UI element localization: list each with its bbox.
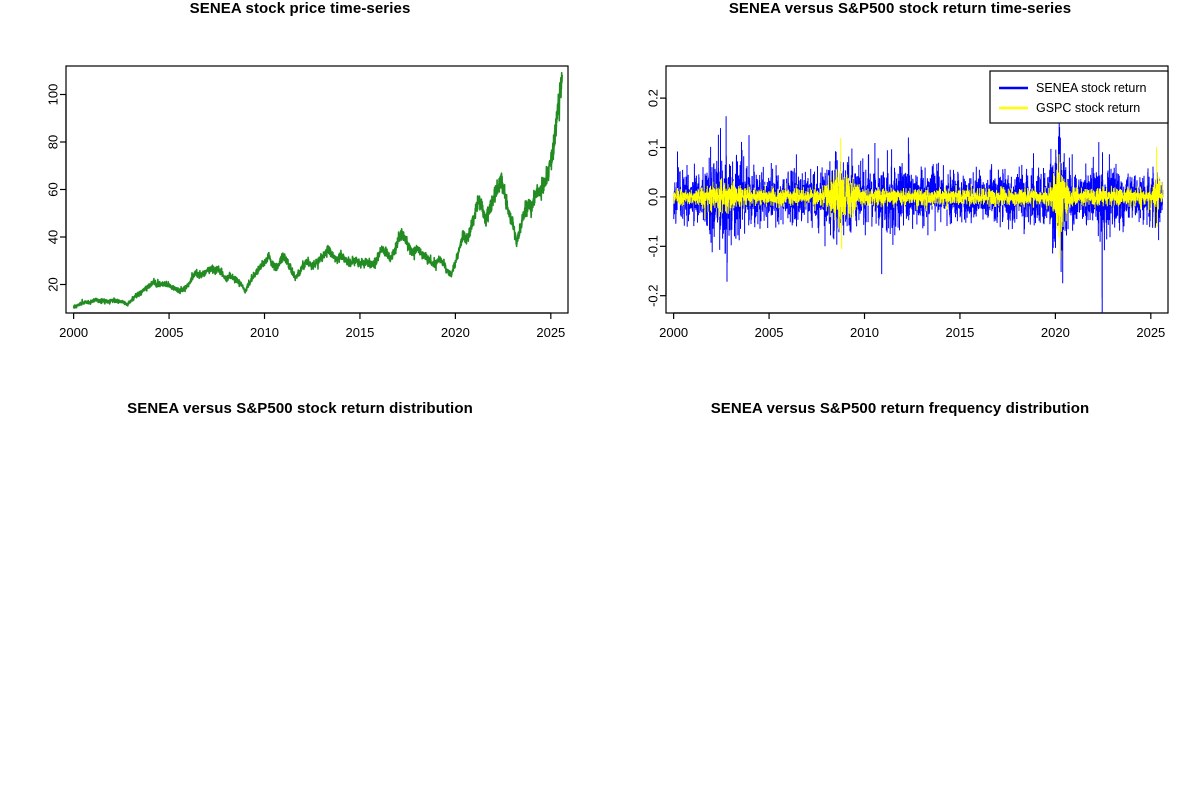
figure-panel-grid: SENEA stock price time-series 2040608010… <box>0 0 1200 800</box>
legend-label-1: GSPC stock return <box>1036 101 1140 115</box>
return-density-chart: 0102030405060-0.2-0.10.00.10.2SENEA retu… <box>0 400 600 800</box>
x-axis-tick-label: 2020 <box>1041 325 1070 340</box>
legend-label-0: SENEA stock return <box>1036 81 1147 95</box>
panel-title-price: SENEA stock price time-series <box>0 0 600 17</box>
y-axis-tick-label: 60 <box>45 182 60 196</box>
plot-frame <box>66 66 568 313</box>
y-axis-tick-label: 0.1 <box>645 138 660 156</box>
x-axis-tick-label: 2005 <box>755 325 784 340</box>
x-axis-tick-label: 2025 <box>536 325 565 340</box>
y-axis-tick-label: -0.2 <box>645 285 660 307</box>
y-axis-tick-label: 0.2 <box>645 89 660 107</box>
y-axis-tick-label: 20 <box>45 277 60 291</box>
legend-box <box>990 71 1168 123</box>
x-axis-tick-label: 2000 <box>59 325 88 340</box>
y-axis-tick-label: 0.0 <box>645 188 660 206</box>
return-line-gspc <box>674 138 1163 259</box>
x-axis-tick-label: 2015 <box>345 325 374 340</box>
return-timeseries-chart: -0.2-0.10.00.10.220002005201020152020202… <box>600 0 1200 400</box>
x-axis-tick-label: 2020 <box>441 325 470 340</box>
panel-title-return: SENEA versus S&P500 stock return time-se… <box>600 0 1200 17</box>
x-axis-tick-label: 2010 <box>850 325 879 340</box>
x-axis-tick-label: 2005 <box>155 325 184 340</box>
panel-return-timeseries: SENEA versus S&P500 stock return time-se… <box>600 0 1200 400</box>
y-axis-tick-label: 100 <box>45 84 60 106</box>
y-axis-tick-label: 80 <box>45 135 60 149</box>
panel-return-distribution: SENEA versus S&P500 stock return distrib… <box>0 400 600 800</box>
price-line-senea <box>74 73 563 308</box>
x-axis-tick-label: 2025 <box>1136 325 1165 340</box>
panel-return-frequency: SENEA versus S&P500 return frequency dis… <box>600 400 1200 800</box>
y-axis-tick-label: -0.1 <box>645 235 660 257</box>
x-axis-tick-label: 2000 <box>659 325 688 340</box>
panel-title-frequency: SENEA versus S&P500 return frequency dis… <box>600 400 1200 417</box>
panel-price-timeseries: SENEA stock price time-series 2040608010… <box>0 0 600 400</box>
price-timeseries-chart: 20406080100200020052010201520202025 <box>0 0 600 400</box>
panel-title-distribution: SENEA versus S&P500 stock return distrib… <box>0 400 600 417</box>
legend-return-timeseries: SENEA stock returnGSPC stock return <box>990 71 1168 123</box>
return-histogram-chart: 0100020003000frequency[-0.215,-0.2)[-0.1… <box>600 400 1200 800</box>
x-axis-tick-label: 2010 <box>250 325 279 340</box>
y-axis-tick-label: 40 <box>45 230 60 244</box>
x-axis-tick-label: 2015 <box>945 325 974 340</box>
return-line-senea <box>674 111 1163 313</box>
